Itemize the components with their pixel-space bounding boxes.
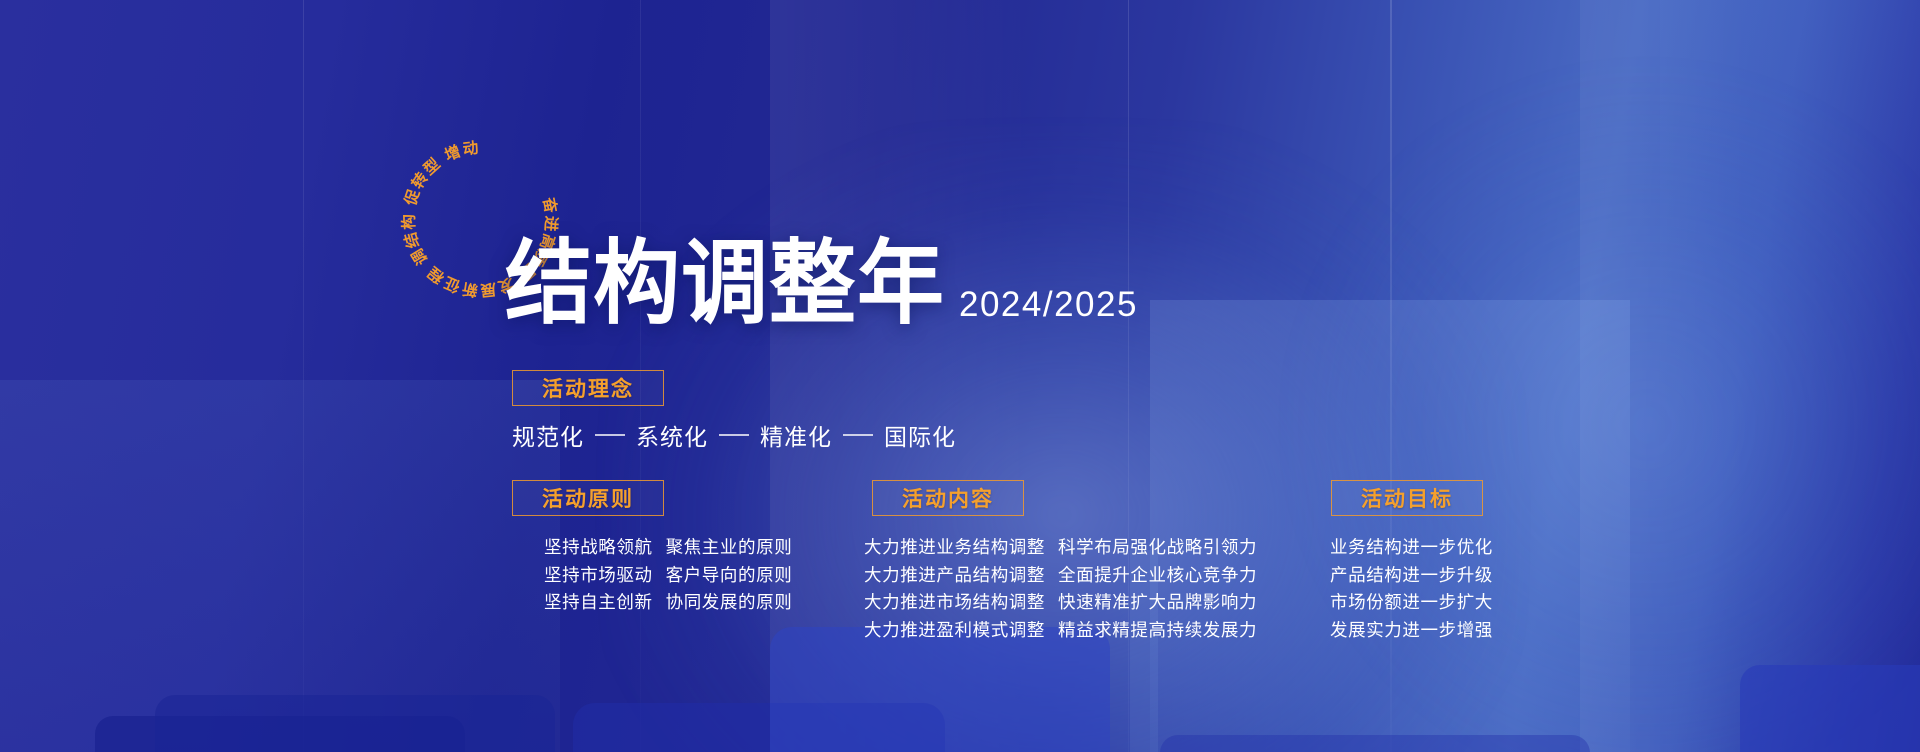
list-item: 坚持自主创新协同发展的原则	[544, 589, 792, 617]
concept-item-2: 精准化	[760, 418, 832, 452]
list-item: 大力推进产品结构调整全面提升企业核心竞争力	[864, 562, 1257, 590]
list-item: 发展实力进一步增强	[1330, 617, 1493, 645]
list-item-secondary: 协同发展的原则	[666, 589, 793, 617]
concept-separator-icon	[719, 434, 749, 436]
title-row: 结构调整年 2024/2025	[505, 243, 1138, 330]
right-glow	[1297, 75, 1920, 752]
concept-item-0: 规范化	[512, 418, 584, 452]
badge-activity-content[interactable]: 活动内容	[872, 480, 1024, 516]
concept-items-line: 规范化 系统化 精准化 国际化	[512, 418, 956, 452]
list-item-primary: 大力推进市场结构调整	[864, 589, 1045, 617]
background-card-shape	[155, 695, 555, 752]
list-item-secondary: 聚焦主业的原则	[666, 534, 793, 562]
list-item: 大力推进业务结构调整科学布局强化战略引领力	[864, 534, 1257, 562]
list-item-secondary: 精益求精提高持续发展力	[1058, 617, 1257, 645]
list-item-primary: 坚持自主创新	[544, 589, 653, 617]
list-item: 大力推进市场结构调整快速精准扩大品牌影响力	[864, 589, 1257, 617]
concept-item-1: 系统化	[636, 418, 708, 452]
concept-separator-icon	[595, 434, 625, 436]
list-item-primary: 市场份额进一步扩大	[1330, 589, 1493, 617]
background-slab	[1150, 300, 1630, 752]
background-card-shape	[1160, 735, 1590, 752]
page-title: 结构调整年	[505, 238, 945, 330]
badge-activity-concept[interactable]: 活动理念	[512, 370, 664, 406]
list-item-primary: 发展实力进一步增强	[1330, 617, 1493, 645]
list-item: 业务结构进一步优化	[1330, 534, 1493, 562]
list-item-primary: 大力推进产品结构调整	[864, 562, 1045, 590]
list-item: 产品结构进一步升级	[1330, 562, 1493, 590]
background-card-shape	[770, 627, 1110, 752]
list-item-primary: 大力推进业务结构调整	[864, 534, 1045, 562]
background-stripe	[303, 0, 304, 752]
background-stripe	[1580, 0, 1750, 752]
badge-activity-content-label: 活动内容	[902, 483, 994, 513]
campaign-banner: 奋进高质量 发展新征程 调结构 促转型 增动能 结构调整年 2024/2025 …	[0, 0, 1920, 752]
concept-separator-icon	[843, 434, 873, 436]
list-item: 大力推进盈利模式调整精益求精提高持续发展力	[864, 617, 1257, 645]
background-slab	[1660, 0, 1920, 752]
list-item-primary: 大力推进盈利模式调整	[864, 617, 1045, 645]
list-item-primary: 坚持市场驱动	[544, 562, 653, 590]
list-item-primary: 坚持战略领航	[544, 534, 653, 562]
list-item-secondary: 客户导向的原则	[666, 562, 793, 590]
badge-activity-goal[interactable]: 活动目标	[1331, 480, 1483, 516]
content-list: 大力推进业务结构调整科学布局强化战略引领力大力推进产品结构调整全面提升企业核心竞…	[864, 534, 1257, 644]
list-item-secondary: 快速精准扩大品牌影响力	[1058, 589, 1257, 617]
list-item-secondary: 科学布局强化战略引领力	[1058, 534, 1257, 562]
background-card-shape	[1740, 665, 1920, 752]
title-year: 2024/2025	[959, 287, 1138, 330]
background-slab	[0, 380, 560, 752]
list-item-primary: 产品结构进一步升级	[1330, 562, 1493, 590]
background-card-shape	[573, 703, 945, 752]
badge-activity-concept-label: 活动理念	[542, 373, 634, 403]
list-item-secondary: 全面提升企业核心竞争力	[1058, 562, 1257, 590]
badge-activity-goal-label: 活动目标	[1361, 483, 1453, 513]
principle-list: 坚持战略领航聚焦主业的原则坚持市场驱动客户导向的原则坚持自主创新协同发展的原则	[544, 534, 792, 617]
goal-list: 业务结构进一步优化产品结构进一步升级市场份额进一步扩大发展实力进一步增强	[1330, 534, 1493, 644]
list-item: 坚持战略领航聚焦主业的原则	[544, 534, 792, 562]
list-item: 市场份额进一步扩大	[1330, 589, 1493, 617]
badge-activity-principle[interactable]: 活动原则	[512, 480, 664, 516]
list-item: 坚持市场驱动客户导向的原则	[544, 562, 792, 590]
badge-activity-principle-label: 活动原则	[542, 483, 634, 513]
concept-item-3: 国际化	[884, 418, 956, 452]
list-item-primary: 业务结构进一步优化	[1330, 534, 1493, 562]
background-card-shape	[95, 716, 465, 752]
